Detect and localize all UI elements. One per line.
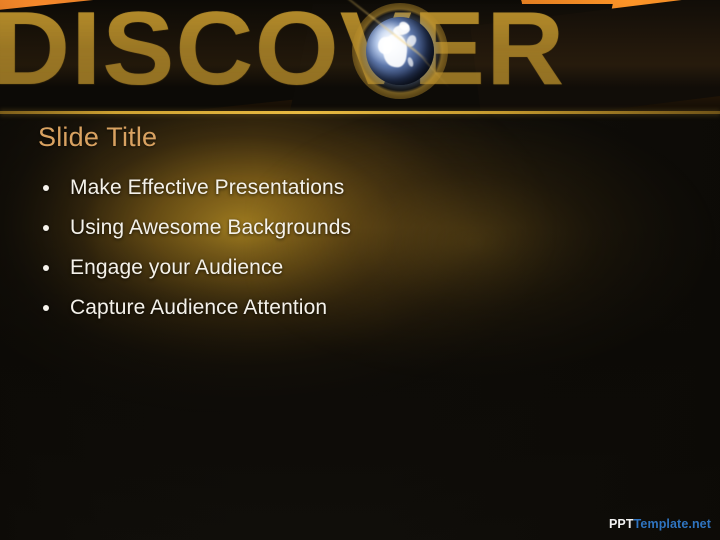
globe-icon — [366, 17, 434, 85]
bullet-list: Make Effective Presentations Using Aweso… — [38, 168, 598, 328]
list-item: Capture Audience Attention — [38, 288, 598, 328]
list-item: Using Awesome Backgrounds — [38, 208, 598, 248]
header-divider — [0, 111, 720, 114]
bullet-text: Make Effective Presentations — [70, 176, 344, 199]
watermark-prefix: PPT — [609, 517, 634, 531]
bullet-text: Capture Audience Attention — [70, 296, 327, 319]
list-item: Make Effective Presentations — [38, 168, 598, 208]
list-item: Engage your Audience — [38, 248, 598, 288]
bullet-text: Engage your Audience — [70, 256, 283, 279]
presentation-slide: DISCOVER DISCOVER Slide Title Make Effec… — [0, 0, 720, 540]
slide-title: Slide Title — [38, 122, 157, 153]
watermark-suffix: Template.net — [634, 517, 711, 531]
watermark-brand[interactable]: PPTTemplate.net — [609, 517, 711, 531]
globe-landmass-madagascar — [407, 56, 415, 67]
bullet-text: Using Awesome Backgrounds — [70, 216, 351, 239]
